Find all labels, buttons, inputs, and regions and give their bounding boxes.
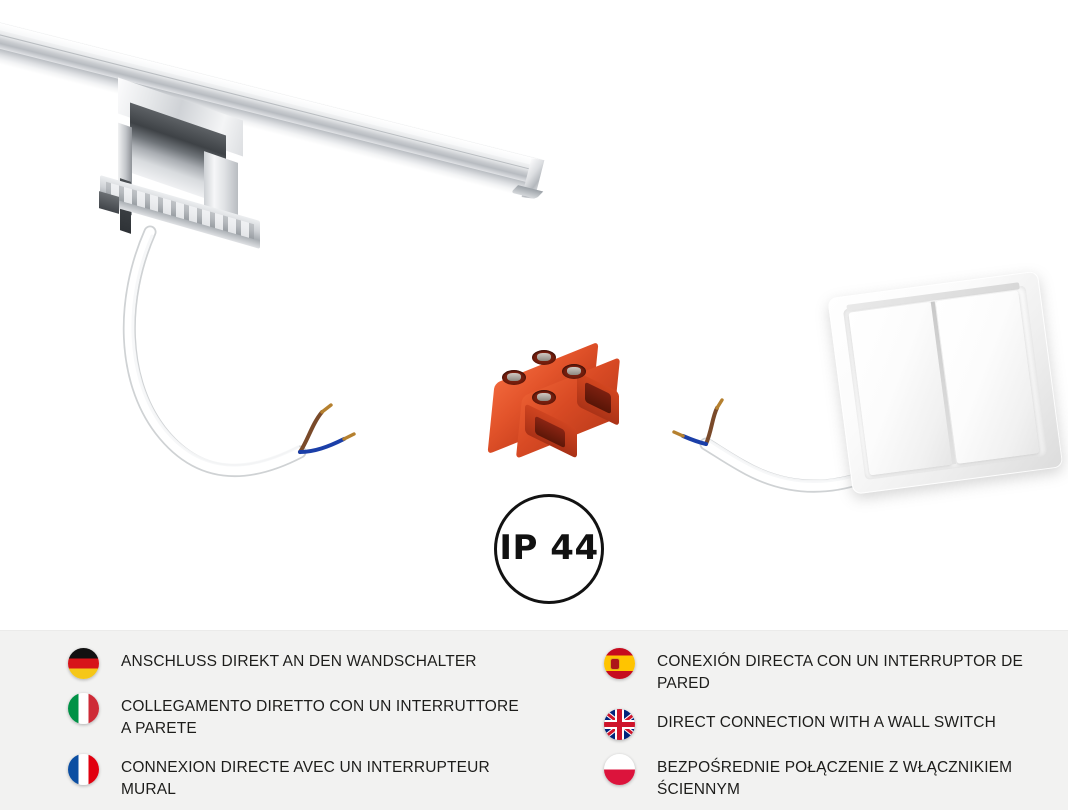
translations-right-column: CONEXIÓN DIRECTA CON UN INTERRUPTOR DE P… bbox=[604, 647, 1068, 810]
list-item: ANSCHLUSS DIREKT AN DEN WANDSCHALTER bbox=[68, 647, 538, 679]
led-bar-tip bbox=[511, 185, 543, 199]
wire-connector-block bbox=[485, 330, 625, 465]
connector-port-3-contact bbox=[567, 367, 581, 375]
connector-port-3 bbox=[557, 362, 591, 406]
italy-flag-icon bbox=[68, 693, 99, 724]
list-item: CONEXIÓN DIRECTA CON UN INTERRUPTOR DE P… bbox=[604, 647, 1068, 695]
translation-text-fr: CONNEXION DIRECTE AVEC UN INTERRUPTEUR M… bbox=[121, 753, 521, 801]
list-item: CONNEXION DIRECTE AVEC UN INTERRUPTEUR M… bbox=[68, 753, 538, 801]
germany-flag-icon bbox=[68, 648, 99, 679]
ip-rating-badge: IP 44 bbox=[494, 494, 604, 604]
translation-text-es: CONEXIÓN DIRECTA CON UN INTERRUPTOR DE P… bbox=[657, 647, 1057, 695]
list-item: DIRECT CONNECTION WITH A WALL SWITCH bbox=[604, 708, 1068, 740]
led-bar-highlight bbox=[0, 18, 542, 167]
translation-text-en: DIRECT CONNECTION WITH A WALL SWITCH bbox=[657, 708, 996, 734]
switch-frame bbox=[827, 271, 1063, 495]
product-infographic: IP 44 ANSCHLUSS DIREKT AN DEN WANDSCHALT… bbox=[0, 0, 1068, 810]
connector-port-4-contact bbox=[537, 393, 551, 401]
poland-flag-icon bbox=[604, 754, 635, 785]
connector-port-2 bbox=[497, 368, 531, 412]
translations-left-column: ANSCHLUSS DIREKT AN DEN WANDSCHALTER COL… bbox=[68, 647, 538, 810]
connector-port-2-contact bbox=[507, 373, 521, 381]
france-flag-icon bbox=[68, 754, 99, 785]
list-item: COLLEGAMENTO DIRETTO CON UN INTERRUTTORE… bbox=[68, 692, 538, 740]
list-item: BEZPOŚREDNIE POŁĄCZENIE Z WŁĄCZNIKIEM ŚC… bbox=[604, 753, 1068, 801]
spain-flag-icon bbox=[604, 648, 635, 679]
ip-rating-label: IP 44 bbox=[499, 531, 598, 567]
connector-port-1-contact bbox=[537, 353, 551, 361]
wall-switch bbox=[827, 269, 1068, 504]
translation-text-it: COLLEGAMENTO DIRETTO CON UN INTERRUTTORE… bbox=[121, 692, 521, 740]
translation-text-pl: BEZPOŚREDNIE POŁĄCZENIE Z WŁĄCZNIKIEM ŚC… bbox=[657, 753, 1057, 801]
translation-text-de: ANSCHLUSS DIREKT AN DEN WANDSCHALTER bbox=[121, 647, 477, 673]
connector-port-4 bbox=[527, 388, 561, 432]
product-photo-area: IP 44 bbox=[0, 0, 1068, 630]
chrome-bracket bbox=[118, 95, 263, 245]
united-kingdom-flag-icon bbox=[604, 709, 635, 740]
right-cable bbox=[674, 400, 862, 486]
translations-panel: ANSCHLUSS DIREKT AN DEN WANDSCHALTER COL… bbox=[0, 630, 1068, 810]
led-bar bbox=[0, 18, 562, 349]
connector-port-1 bbox=[527, 348, 561, 392]
